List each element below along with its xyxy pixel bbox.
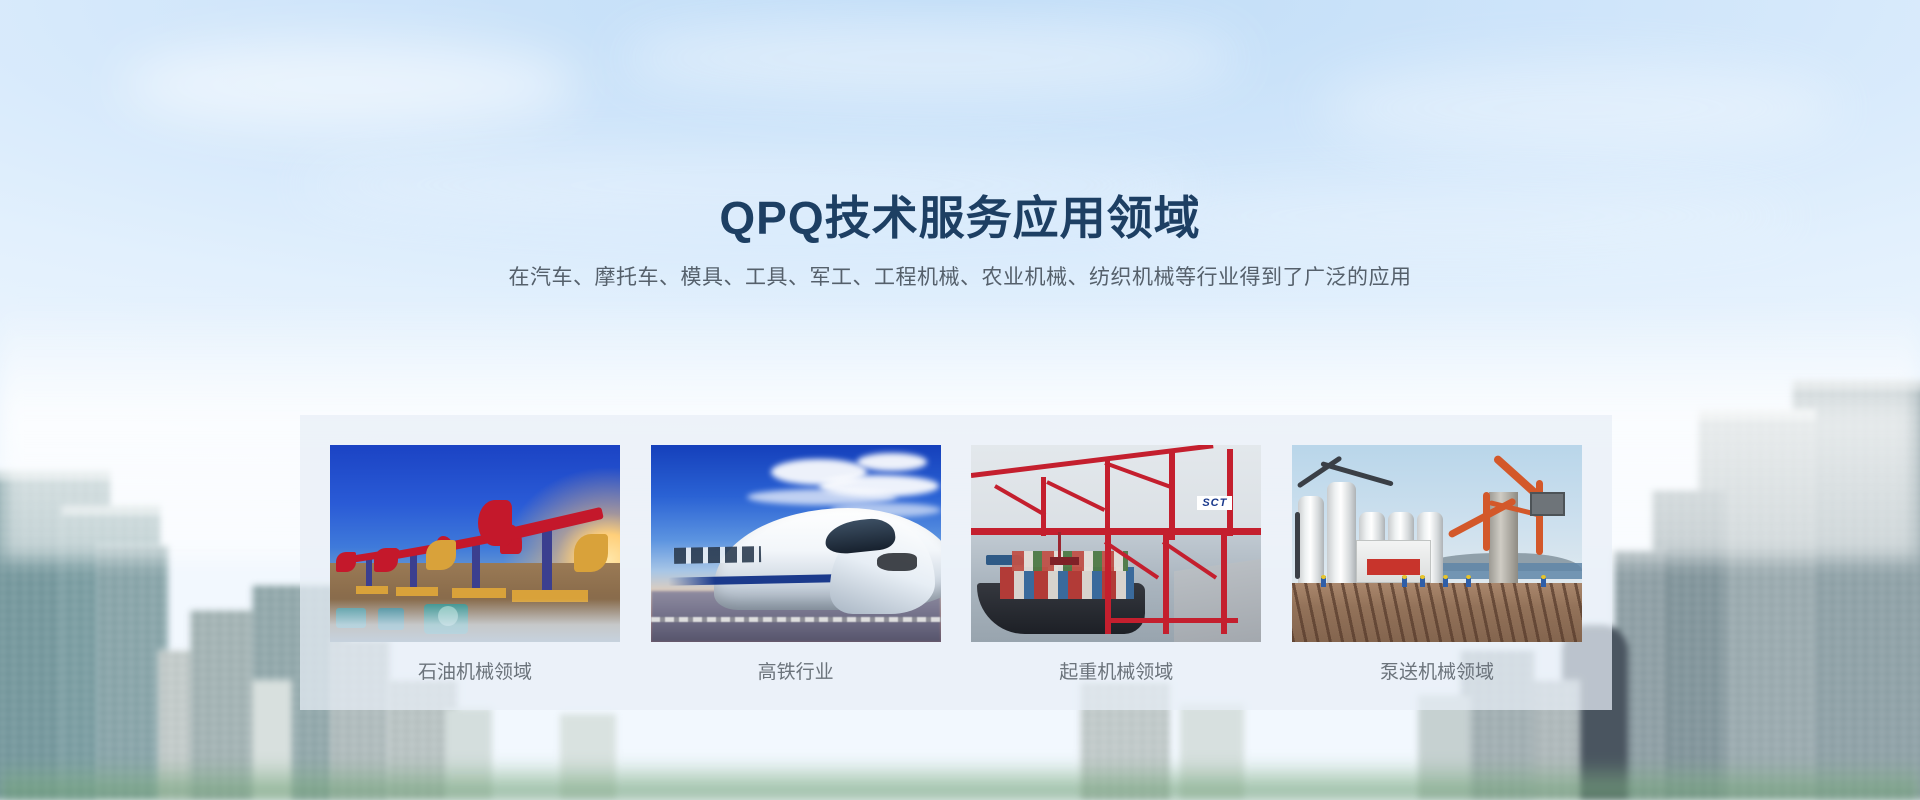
application-cards-list: 石油机械领域 (300, 415, 1612, 710)
card-caption: 石油机械领域 (330, 660, 620, 686)
high-speed-train-scene (651, 445, 941, 642)
cloud-wisp (620, 18, 1240, 98)
card-oil-machinery[interactable]: 石油机械领域 (330, 445, 620, 710)
card-caption: 高铁行业 (651, 660, 941, 686)
oil-machinery-photo[interactable] (330, 445, 620, 642)
concrete-pump-scene (1292, 445, 1582, 642)
high-speed-rail-photo[interactable] (651, 445, 941, 642)
cloud-wisp (120, 40, 580, 130)
card-pumping-machinery[interactable]: 泵送机械领域 (1292, 445, 1582, 710)
lifting-machinery-photo[interactable]: SCT (971, 445, 1261, 642)
card-caption: 泵送机械领域 (1292, 660, 1582, 686)
page-title: QPQ技术服务应用领域 (0, 188, 1920, 248)
card-caption: 起重机械领域 (971, 660, 1261, 686)
pumping-machinery-photo[interactable] (1292, 445, 1582, 642)
crane-brand-label: SCT (1197, 496, 1232, 510)
oil-field-scene (330, 445, 620, 642)
application-fields-panel: 石油机械领域 (300, 415, 1612, 710)
page-subtitle: 在汽车、摩托车、模具、工具、军工、工程机械、农业机械、纺织机械等行业得到了广泛的… (0, 262, 1920, 294)
card-high-speed-rail[interactable]: 高铁行业 (651, 445, 941, 710)
hero-heading-group: QPQ技术服务应用领域 在汽车、摩托车、模具、工具、军工、工程机械、农业机械、纺… (0, 188, 1920, 294)
port-crane-scene: SCT (971, 445, 1261, 642)
hero-banner: QPQ技术服务应用领域 在汽车、摩托车、模具、工具、军工、工程机械、农业机械、纺… (0, 0, 1920, 800)
foreground-greenery (0, 760, 1920, 800)
card-lifting-machinery[interactable]: SCT 起重机械领域 (971, 445, 1261, 710)
cloud-wisp (1320, 60, 1840, 156)
